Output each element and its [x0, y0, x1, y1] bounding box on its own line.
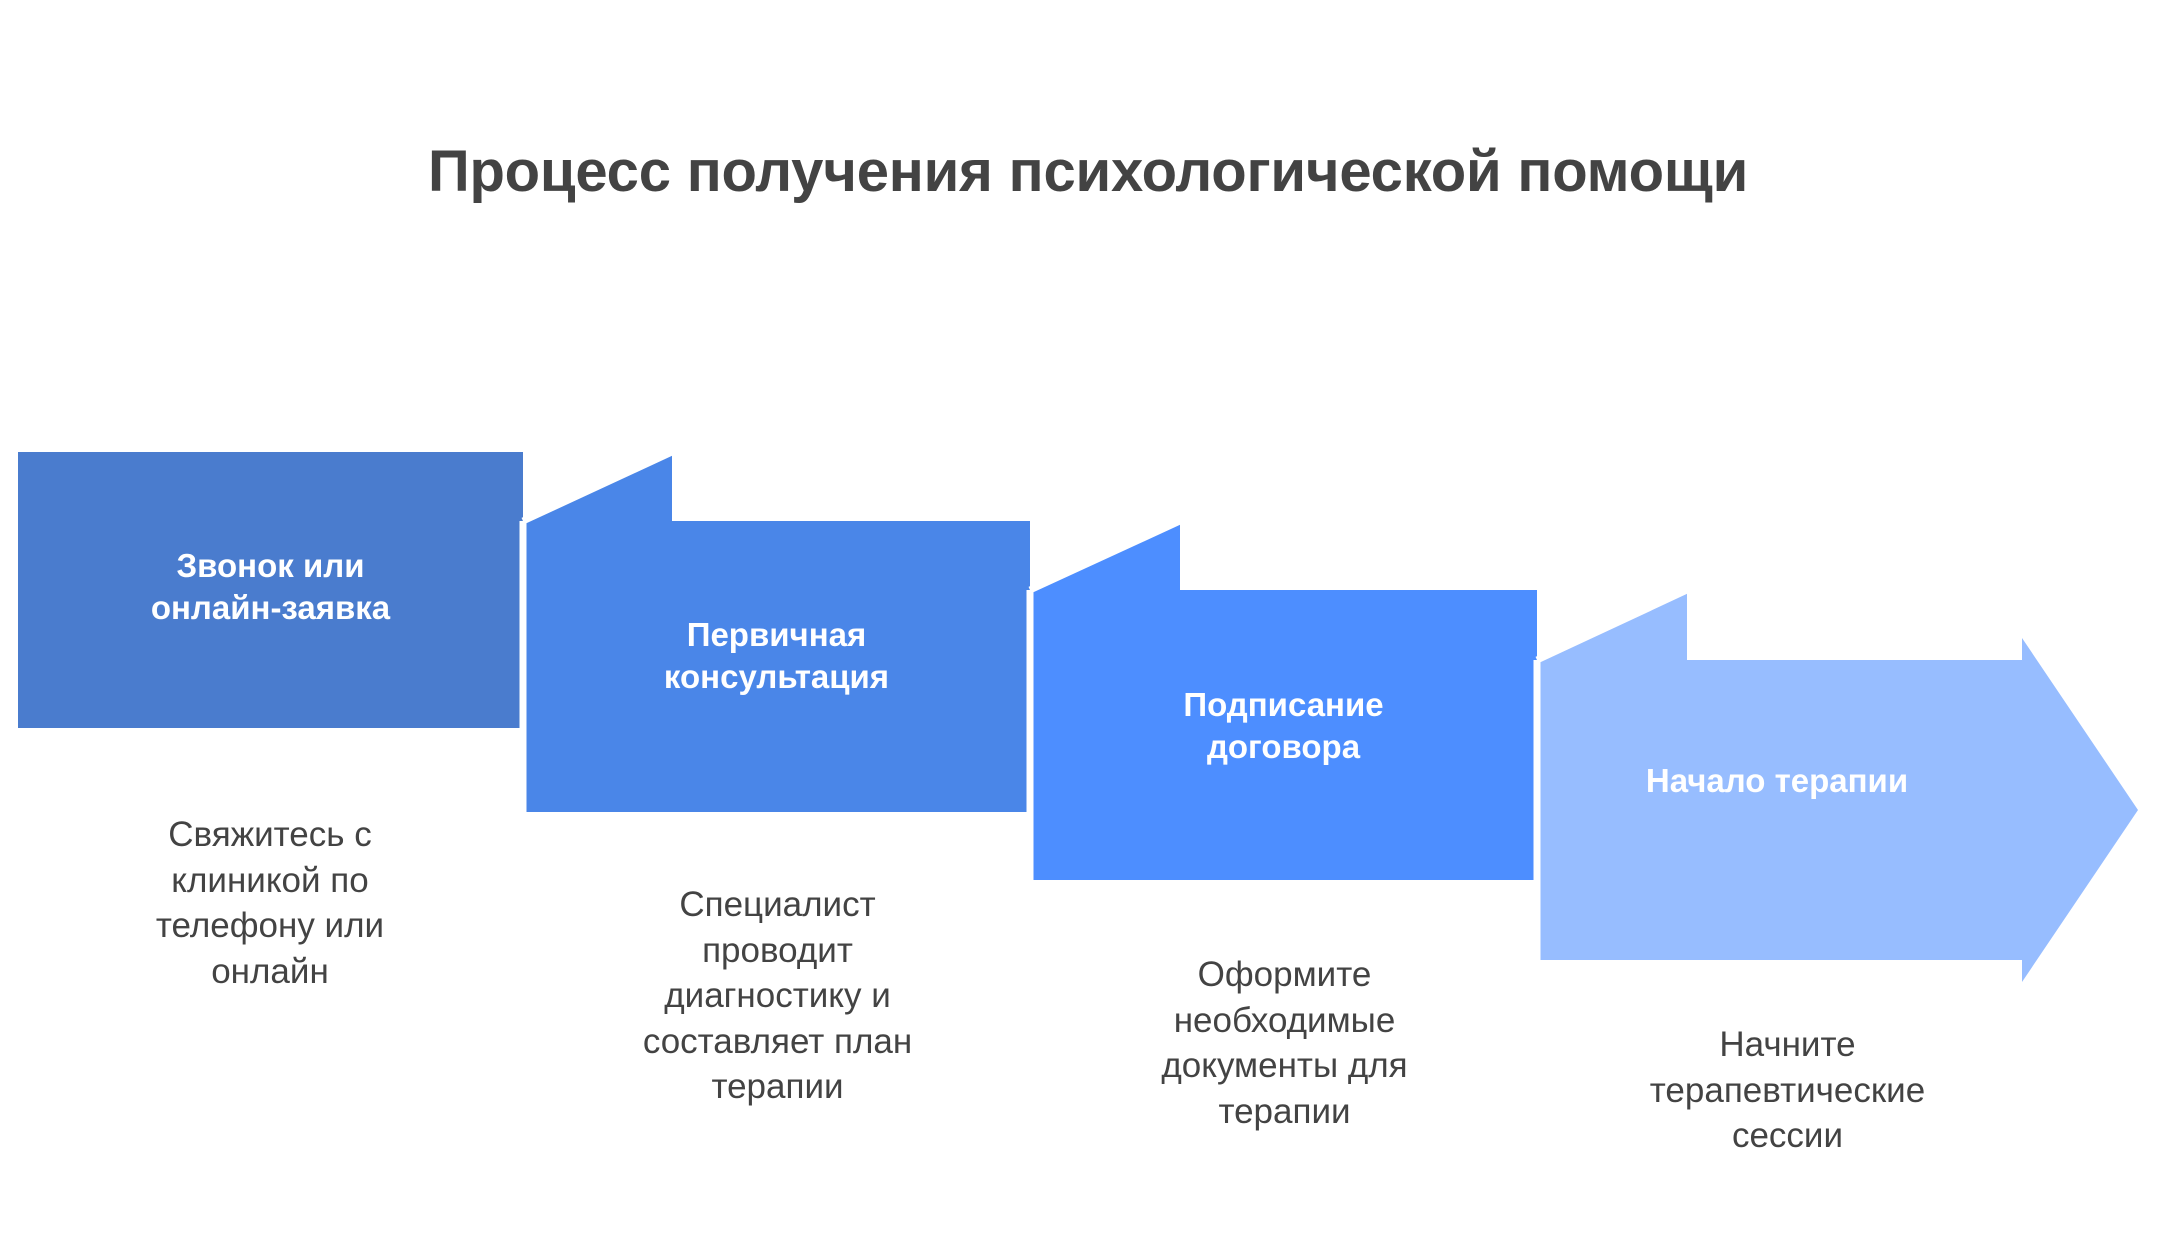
- slide-canvas: Процесс получения психологической помощи: [0, 0, 2176, 1256]
- process-step-shape-4[interactable]: [1537, 638, 2138, 982]
- process-flow-diagram: Звонок или онлайн-заявка Первичная консу…: [0, 0, 2176, 1256]
- process-step-caption-3: Оформите необходимые документы для терап…: [1052, 952, 1517, 1134]
- process-step-shape-3[interactable]: [1030, 590, 1537, 880]
- process-step-caption-1: Свяжитесь с клиникой по телефону или онл…: [40, 812, 500, 994]
- process-step-shape-2[interactable]: [523, 521, 1030, 812]
- process-step-caption-2: Специалист проводит диагностику и состав…: [545, 882, 1010, 1110]
- process-step-caption-4: Начните терапевтические сессии: [1555, 1022, 2020, 1159]
- process-step-shape-1[interactable]: [18, 452, 523, 728]
